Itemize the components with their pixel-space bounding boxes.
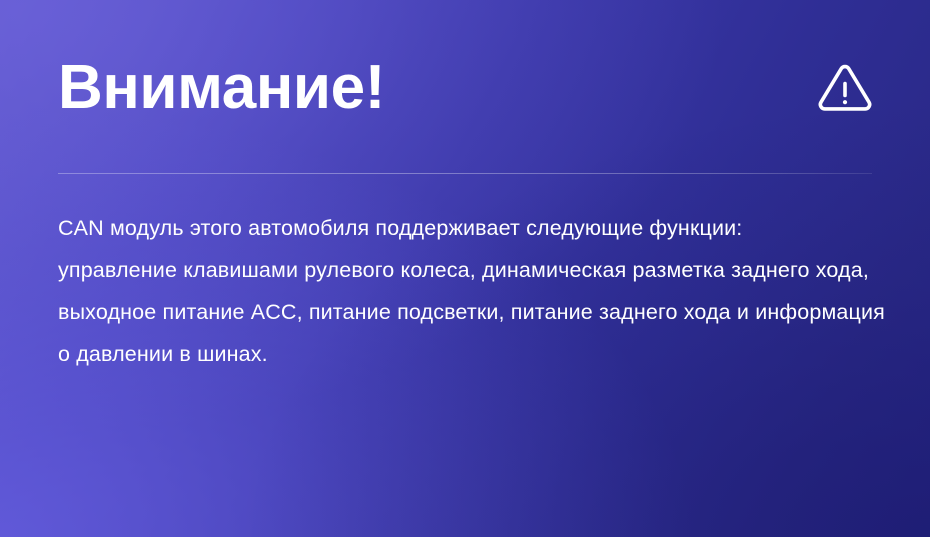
body-paragraph-details: управление клавишами рулевого колеса, ди…: [58, 249, 888, 375]
banner-header: Внимание!: [58, 50, 874, 126]
header-divider: [58, 173, 872, 174]
warning-triangle-icon: [816, 61, 874, 119]
warning-banner: Внимание! CAN модуль этого автомобиля по…: [0, 0, 930, 537]
body-paragraph-intro: CAN модуль этого автомобиля поддерживает…: [58, 207, 888, 249]
banner-body: CAN модуль этого автомобиля поддерживает…: [58, 207, 888, 375]
page-title: Внимание!: [58, 52, 385, 124]
banner-content: Внимание! CAN модуль этого автомобиля по…: [0, 0, 930, 537]
